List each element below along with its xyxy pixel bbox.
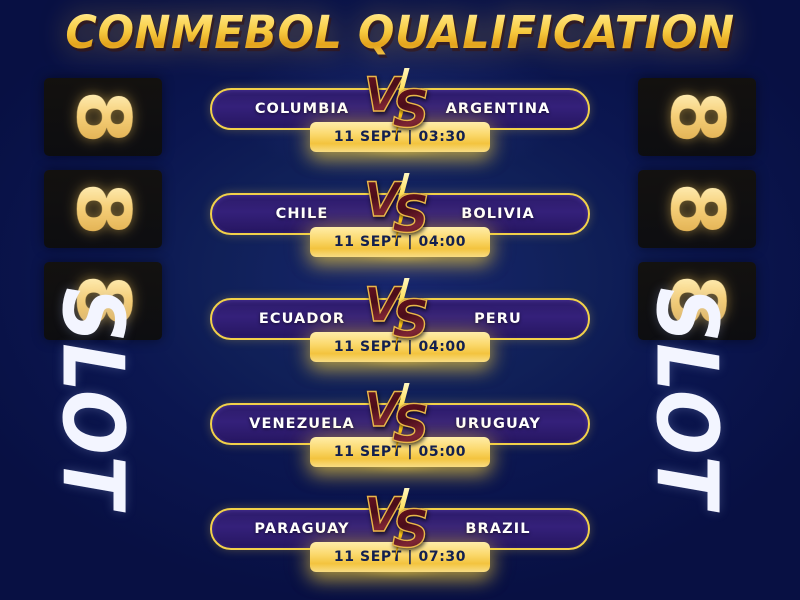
home-team-name: COLUMBIA [238,101,366,117]
versus-letter-s: S [392,294,429,346]
versus-letter-s: S [392,504,429,556]
home-team-name: PARAGUAY [238,521,366,537]
match-row[interactable]: CHILE BOLIVIA V S 11 SEPT | 04:00 [0,183,800,288]
versus-letter-s: S [392,189,429,241]
away-team-name: PERU [434,311,562,327]
versus-letter-s: S [392,84,429,136]
versus-badge: V S [366,70,434,142]
versus-badge: V S [366,490,434,562]
versus-badge: V S [366,175,434,247]
away-team-name: BRAZIL [434,521,562,537]
match-row[interactable]: COLUMBIA ARGENTINA V S 11 SEPT | 03:30 [0,78,800,183]
page-title: CONMEBOL QUALIFICATION [65,7,734,60]
versus-letter-s: S [392,399,429,451]
match-list: COLUMBIA ARGENTINA V S 11 SEPT | 03:30 C… [0,78,800,600]
away-team-name: ARGENTINA [434,101,562,117]
page-title-container: CONMEBOL QUALIFICATION [0,8,800,58]
home-team-name: VENEZUELA [238,416,366,432]
versus-badge: V S [366,280,434,352]
match-row[interactable]: VENEZUELA URUGUAY V S 11 SEPT | 05:00 [0,393,800,498]
match-row[interactable]: PARAGUAY BRAZIL V S 11 SEPT | 07:30 [0,498,800,600]
match-row[interactable]: ECUADOR PERU V S 11 SEPT | 04:00 [0,288,800,393]
away-team-name: URUGUAY [434,416,562,432]
home-team-name: ECUADOR [238,311,366,327]
versus-badge: V S [366,385,434,457]
home-team-name: CHILE [238,206,366,222]
away-team-name: BOLIVIA [434,206,562,222]
